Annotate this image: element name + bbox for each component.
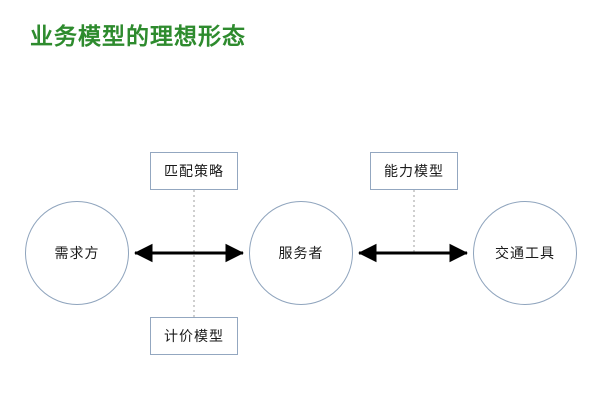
label-box-capability-model[interactable]: 能力模型 <box>370 152 458 190</box>
node-label-transport: 交通工具 <box>495 243 555 263</box>
diagram-canvas: 业务模型的理想形态 需求方 服务者 交通工具 匹配策略 计价模型 <box>0 0 600 403</box>
node-circle-demand[interactable]: 需求方 <box>25 201 129 305</box>
page-title: 业务模型的理想形态 <box>30 22 246 52</box>
node-label-provider: 服务者 <box>279 243 324 263</box>
label-text-capability-model: 能力模型 <box>384 161 444 181</box>
label-text-pricing-model: 计价模型 <box>164 326 224 346</box>
label-box-pricing-model[interactable]: 计价模型 <box>150 317 238 355</box>
label-box-matching-strategy[interactable]: 匹配策略 <box>150 152 238 190</box>
node-label-demand: 需求方 <box>55 243 100 263</box>
node-circle-provider[interactable]: 服务者 <box>249 201 353 305</box>
label-text-matching-strategy: 匹配策略 <box>164 161 224 181</box>
node-circle-transport[interactable]: 交通工具 <box>473 201 577 305</box>
